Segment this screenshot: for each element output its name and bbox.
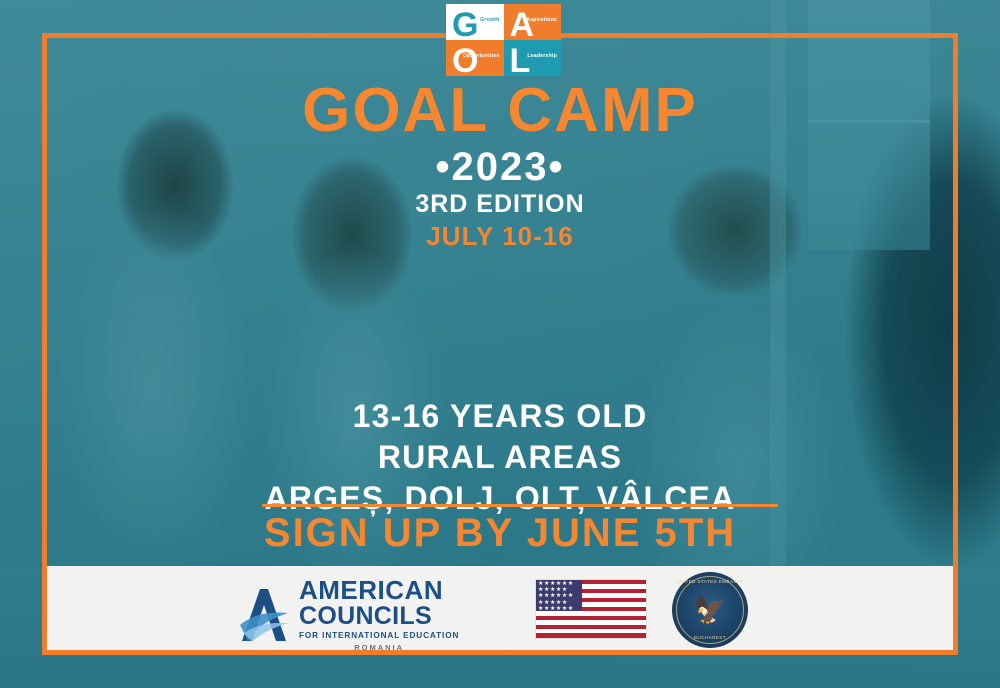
call-to-action: SIGN UP BY JUNE 5TH: [0, 511, 1000, 556]
ac-country: ROMANIA: [299, 644, 459, 652]
ac-line-2: COUNCILS: [299, 604, 459, 629]
logo-cell-g: G Growth: [446, 4, 504, 40]
american-councils-mark-icon: [238, 585, 290, 643]
seal-bottom-text: BUCHAREST: [672, 635, 748, 640]
logo-cell-l: L Leadership: [504, 40, 562, 76]
logo-letter-g: G: [452, 8, 478, 42]
logo-cell-a: A Aspirations: [504, 4, 562, 40]
logo-letter-a: A: [510, 8, 535, 42]
logo-cell-o: O Opportunities: [446, 40, 504, 76]
orange-divider: [262, 504, 778, 507]
us-embassy-seal-icon: UNITED STATES EMBASSY 🦅 BUCHAREST: [672, 572, 748, 648]
goal-logo: G Growth A Aspirations O Opportunities L…: [446, 4, 561, 76]
logo-word-growth: Growth: [480, 18, 499, 23]
ac-line-3: FOR INTERNATIONAL EDUCATION: [299, 632, 459, 640]
details-block: 13-16 YEARS OLD RURAL AREAS ARGEȘ, DOLJ,…: [0, 396, 1000, 519]
logo-word-aspirations: Aspirations: [526, 18, 557, 23]
poster-dates: JULY 10-16: [0, 221, 1000, 252]
headline-block: GOAL CAMP •2023• 3RD EDITION JULY 10-16: [0, 80, 1000, 252]
ac-line-1: AMERICAN: [299, 577, 459, 603]
logo-letter-o: O: [452, 44, 478, 78]
poster-year: •2023•: [0, 146, 1000, 188]
logo-word-opportunities: Opportunities: [463, 54, 500, 59]
poster-title: GOAL CAMP: [0, 80, 1000, 142]
detail-area-type: RURAL AREAS: [0, 437, 1000, 478]
poster-canvas: G Growth A Aspirations O Opportunities L…: [0, 0, 1000, 688]
flag-canton: ★★★★★★★★★★★★★★★★★★★★★★★★★★★★: [536, 580, 582, 611]
seal-ring: [676, 576, 744, 644]
sponsor-bar: [47, 566, 953, 650]
poster-edition: 3RD EDITION: [0, 190, 1000, 219]
seal-top-text: UNITED STATES EMBASSY: [672, 579, 748, 584]
united-states-flag-icon: ★★★★★★★★★★★★★★★★★★★★★★★★★★★★ Flag of the…: [536, 580, 646, 638]
logo-letter-l: L: [510, 44, 531, 78]
american-councils-wordmark: AMERICAN COUNCILS FOR INTERNATIONAL EDUC…: [299, 577, 459, 652]
logo-word-leadership: Leadership: [527, 54, 557, 59]
detail-age-range: 13-16 YEARS OLD: [0, 396, 1000, 437]
american-councils-logo: AMERICAN COUNCILS FOR INTERNATIONAL EDUC…: [238, 577, 459, 652]
